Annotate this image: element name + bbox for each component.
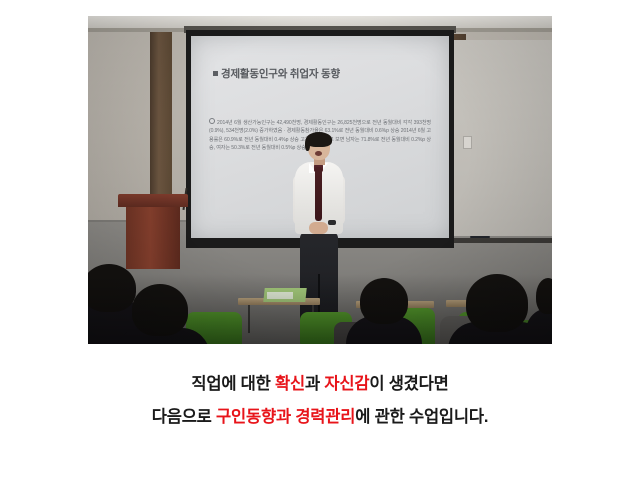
audience-head bbox=[360, 278, 408, 324]
podium-top bbox=[118, 194, 188, 207]
handout-white bbox=[267, 292, 293, 299]
speaker-hands bbox=[309, 222, 328, 234]
slide-title: 경제활동인구와 취업자 동향 bbox=[213, 66, 340, 81]
desk-leg bbox=[248, 305, 250, 333]
caption-line1-part1: 직업에 대한 bbox=[191, 375, 275, 393]
classroom-lecture-photo: 경제활동인구와 취업자 동향 2014년 6월 생산가능인구는 42,490천명… bbox=[88, 16, 552, 344]
marker-pen bbox=[470, 236, 490, 238]
audience-head bbox=[88, 264, 136, 312]
speaker-wristwatch bbox=[328, 220, 336, 225]
wall-socket bbox=[463, 136, 472, 149]
audience-head bbox=[132, 284, 188, 336]
caption-line-1: 직업에 대한 확신과 자신감이 생겼다면 bbox=[0, 368, 640, 401]
caption-line1-part2: 과 bbox=[305, 375, 324, 393]
speaker-hair-side bbox=[305, 138, 310, 151]
slide-title-text: 경제활동인구와 취업자 동향 bbox=[221, 68, 340, 80]
audience-head bbox=[536, 278, 552, 314]
caption-line2-part1: 다음으로 bbox=[152, 408, 216, 426]
whiteboard-tray bbox=[450, 238, 552, 243]
caption-line1-highlight2: 자신감 bbox=[324, 375, 369, 393]
caption-line2-part2: 에 관한 수업입니다. bbox=[355, 408, 488, 426]
lecture-caption: 직업에 대한 확신과 자신감이 생겼다면 다음으로 구인동향과 경력관리에 관한… bbox=[0, 368, 640, 434]
caption-line1-part3: 이 생겼다면 bbox=[369, 375, 448, 393]
caption-line2-highlight1: 구인동향과 경력관리 bbox=[216, 408, 355, 426]
caption-line-2: 다음으로 구인동향과 경력관리에 관한 수업입니다. bbox=[0, 401, 640, 434]
audience-head bbox=[466, 274, 528, 332]
slide-title-bullet-icon bbox=[213, 71, 218, 76]
speaker-mouth bbox=[315, 151, 322, 156]
podium-body bbox=[126, 207, 180, 269]
caption-line1-highlight1: 확신 bbox=[275, 375, 305, 393]
speaker-necktie bbox=[315, 167, 322, 221]
slide-body-bullet-icon bbox=[209, 118, 215, 124]
